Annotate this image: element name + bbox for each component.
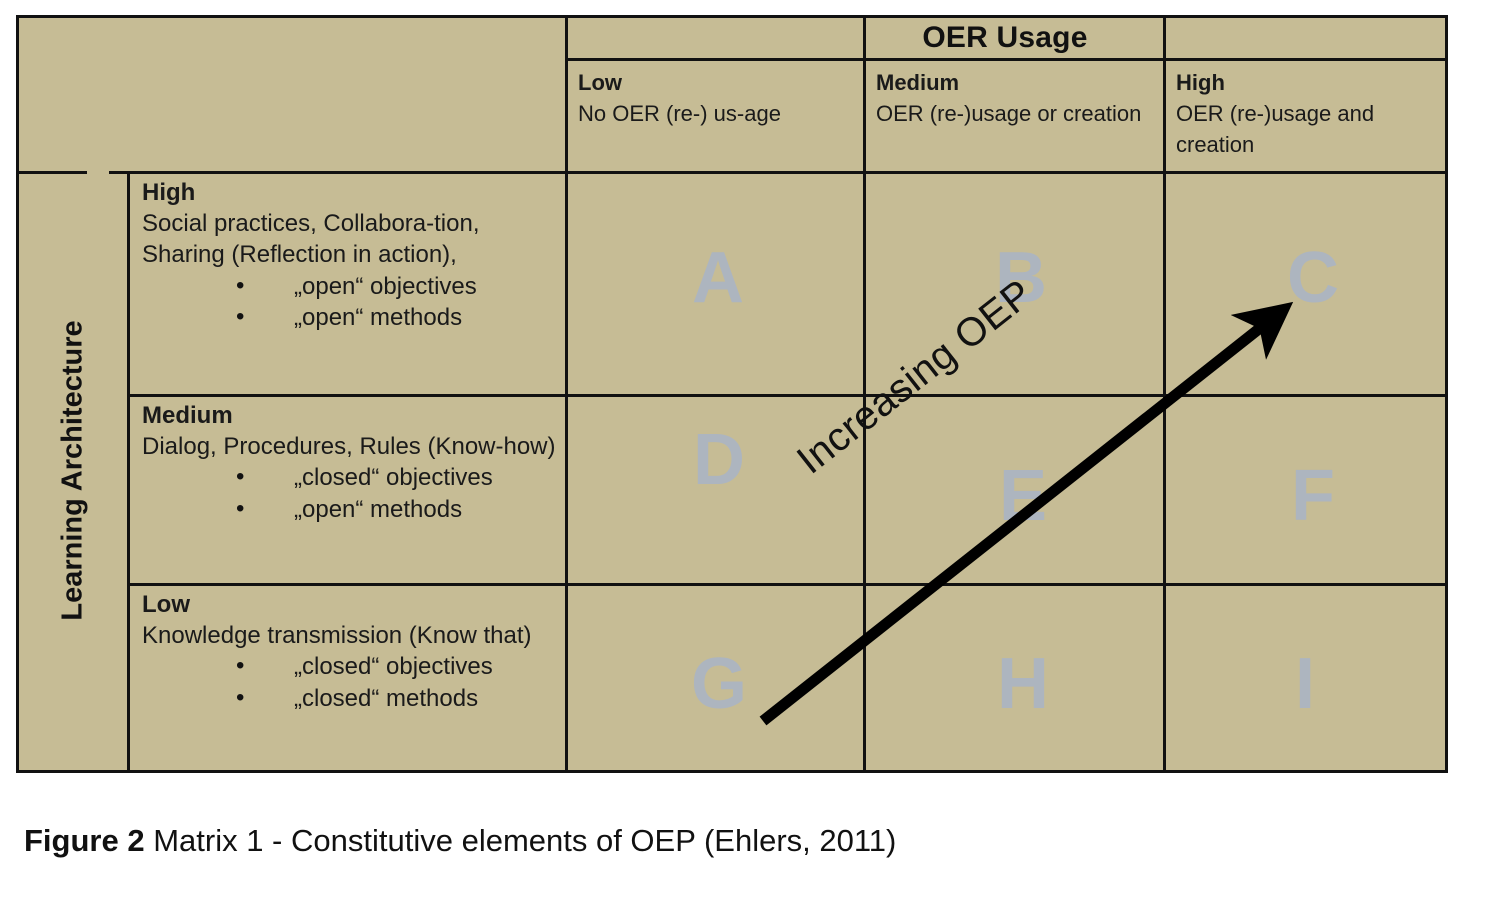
matrix-cell-g: G [691,648,747,720]
list-item: „closed“ methods [142,683,559,715]
figure-caption-number: Figure 2 [24,823,145,858]
figure-caption: Figure 2 Matrix 1 - Constitutive element… [24,823,896,859]
figure-container: OER Usage Low No OER (re-) us-age Medium… [0,0,1488,904]
matrix-cell-e: E [999,460,1047,532]
list-item: „open“ objectives [142,271,559,303]
row-header-low: Low Knowledge transmission (Know that) „… [130,586,565,773]
column-header-high: High OER (re-)usage and creation [1166,61,1448,171]
column-header-high-level: High [1176,67,1440,98]
row-header-medium: Medium Dialog, Procedures, Rules (Know-h… [130,397,565,583]
column-header-low-level: Low [578,67,855,98]
row-header-low-level: Low [142,589,559,620]
figure-caption-text: Matrix 1 - Constitutive elements of OEP … [145,823,897,858]
list-item: „open“ methods [142,494,559,526]
list-item: „closed“ objectives [142,462,559,494]
row-header-high-bullets: „open“ objectives „open“ methods [142,271,559,334]
list-item: „closed“ objectives [142,651,559,683]
row-header-high: High Social practices, Collabora-tion, S… [130,174,565,394]
column-header-high-description: OER (re-)usage and creation [1176,98,1440,160]
row-axis-title-text: Learning Architecture [57,320,90,620]
row-header-high-description: Social practices, Collabora-tion, Sharin… [142,208,559,270]
oep-matrix-table: OER Usage Low No OER (re-) us-age Medium… [16,15,1448,773]
column-header-medium-description: OER (re-)usage or creation [876,98,1155,129]
column-header-medium: Medium OER (re-)usage or creation [866,61,1163,171]
row-header-low-bullets: „closed“ objectives „closed“ methods [142,651,559,714]
list-item: „open“ methods [142,302,559,334]
row-header-low-description: Knowledge transmission (Know that) [142,620,559,651]
row-header-medium-level: Medium [142,400,559,431]
increasing-oep-label: Increasing OEP [789,271,1041,483]
row-header-medium-bullets: „closed“ objectives „open“ methods [142,462,559,525]
row-axis-title: Learning Architecture [19,171,127,770]
matrix-cell-f: F [1291,460,1335,532]
row-header-high-level: High [142,177,559,208]
matrix-cell-c: C [1287,242,1339,314]
matrix-cell-h: H [997,648,1049,720]
matrix-cell-d: D [693,424,745,496]
column-header-low: Low No OER (re-) us-age [568,61,863,171]
matrix-cell-i: I [1295,648,1315,720]
column-header-medium-level: Medium [876,67,1155,98]
matrix-cell-a: A [692,242,744,314]
column-axis-title: OER Usage [565,18,1445,58]
row-header-medium-description: Dialog, Procedures, Rules (Know-how) [142,431,559,462]
column-header-low-description: No OER (re-) us-age [578,98,855,129]
